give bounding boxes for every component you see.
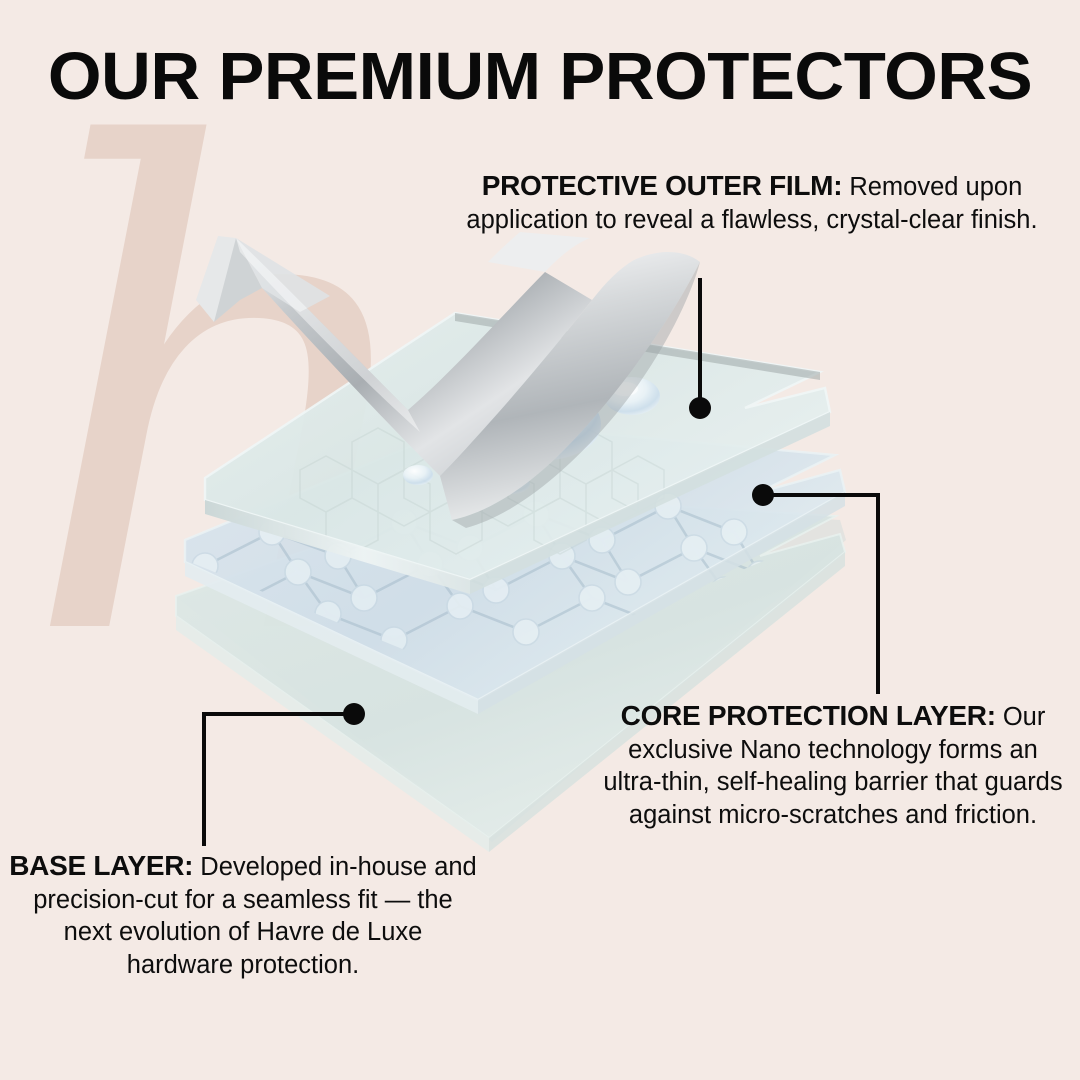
page-title: OUR PREMIUM PROTECTORS bbox=[0, 38, 1080, 115]
callout-core-lead: CORE PROTECTION LAYER: bbox=[621, 700, 996, 731]
callout-core-protection-layer: CORE PROTECTION LAYER: Our exclusive Nan… bbox=[598, 698, 1068, 832]
infographic-canvas: h bbox=[0, 0, 1080, 1080]
callout-base-layer: BASE LAYER: Developed in-house and preci… bbox=[8, 848, 478, 982]
callout-protective-outer-film: PROTECTIVE OUTER FILM: Removed upon appl… bbox=[462, 168, 1042, 236]
callout-base-lead: BASE LAYER: bbox=[9, 850, 193, 881]
callout-film-lead: PROTECTIVE OUTER FILM: bbox=[482, 170, 843, 201]
